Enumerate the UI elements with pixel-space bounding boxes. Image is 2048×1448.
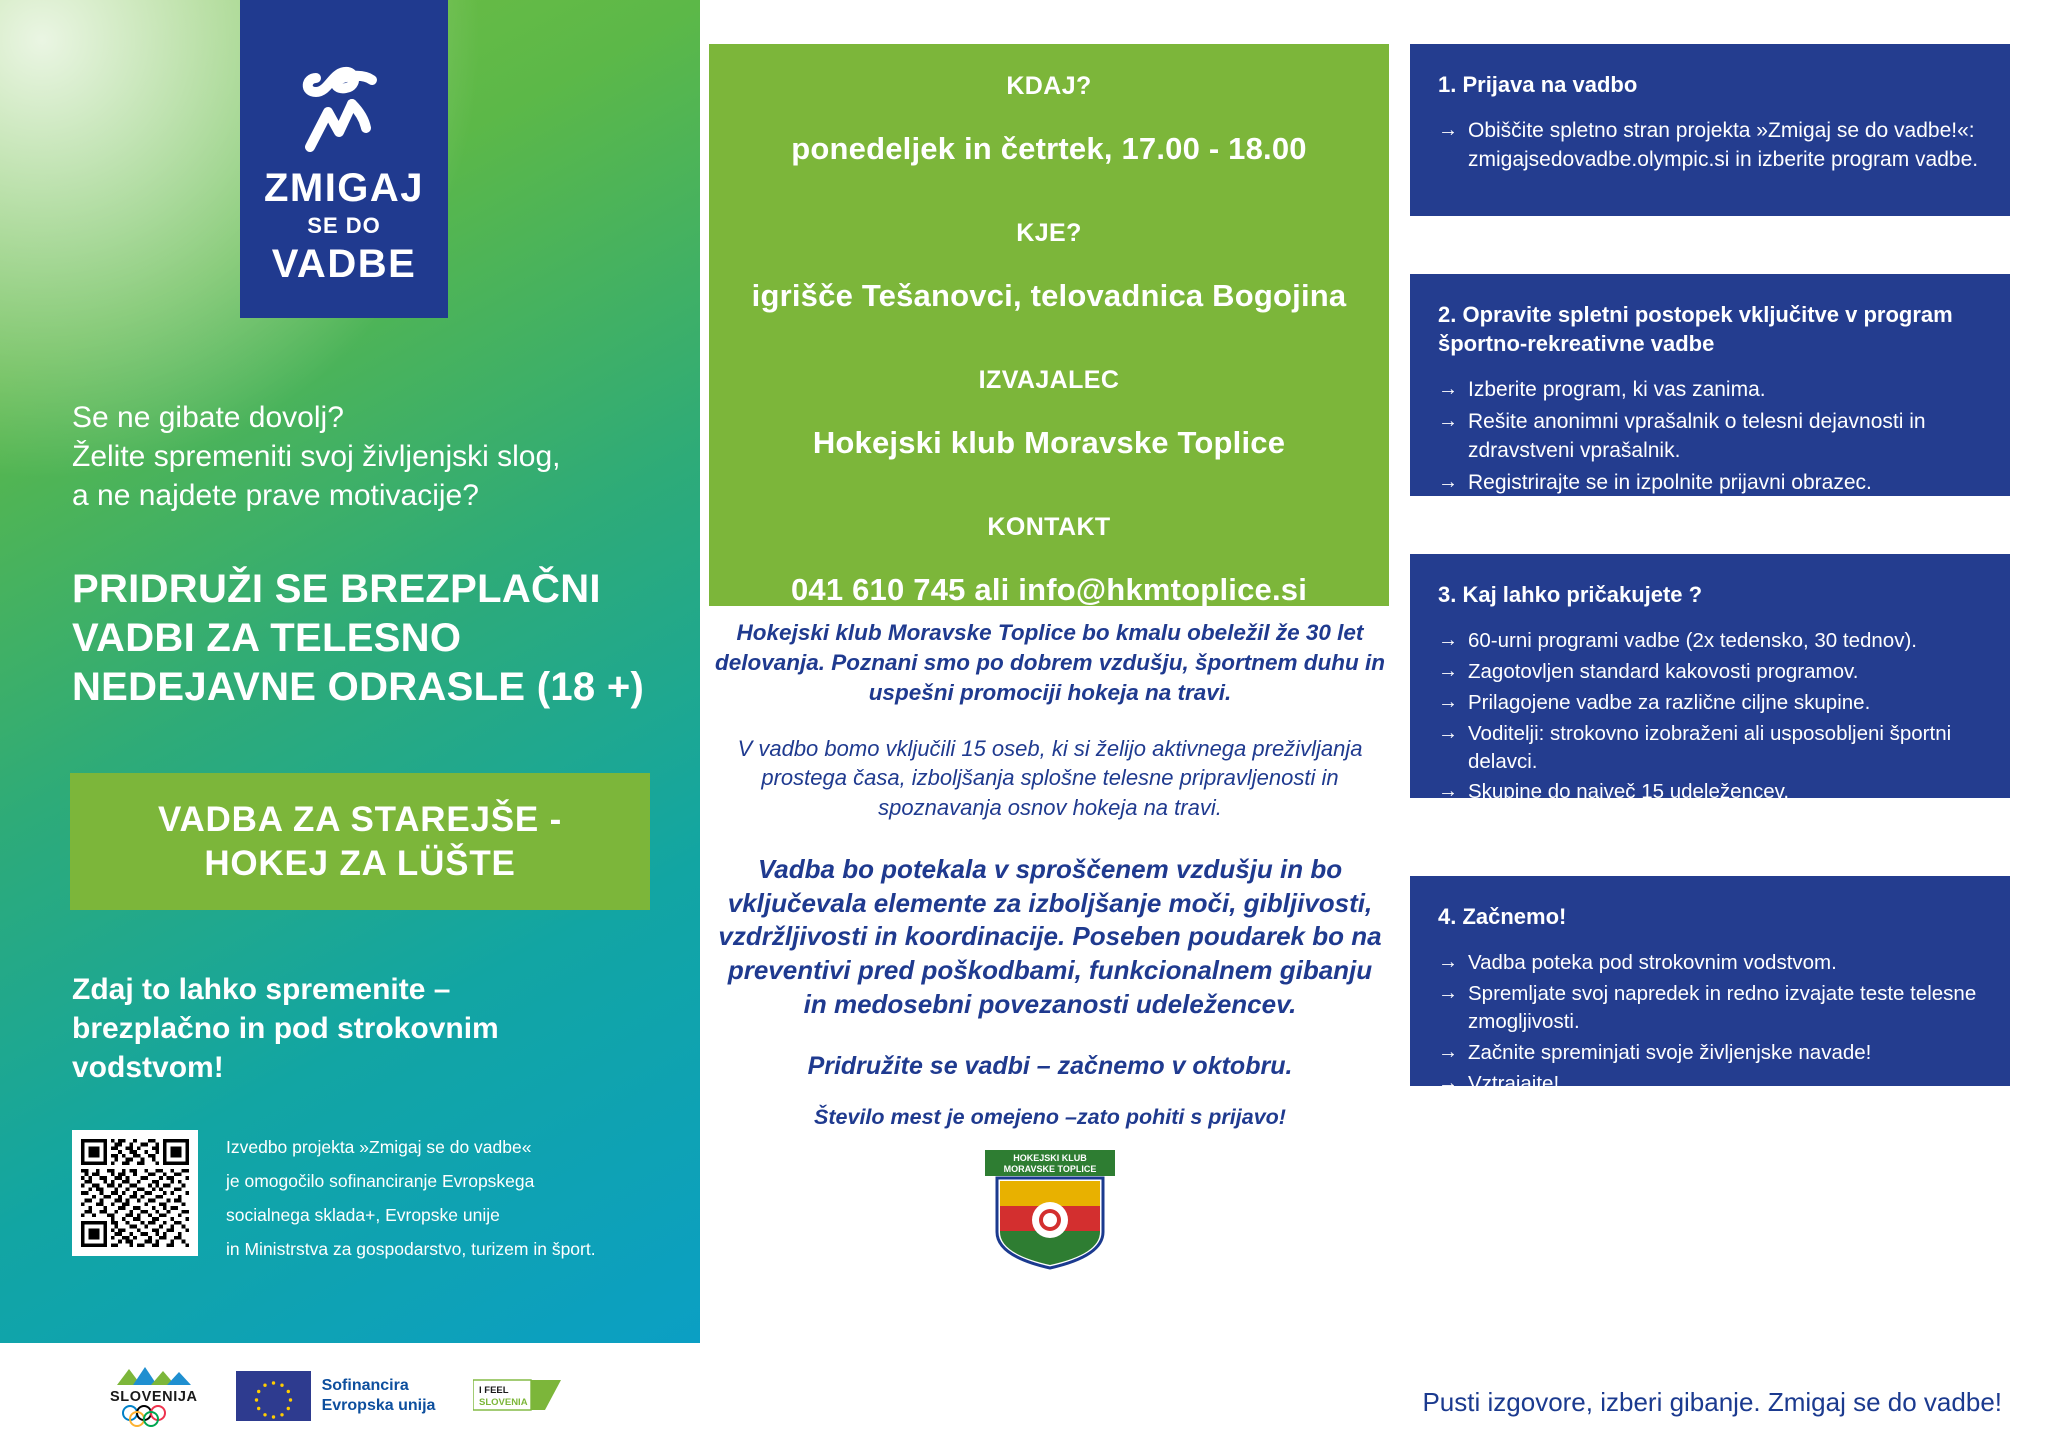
- list-item: → Zagotovljen standard kakovosti program…: [1438, 658, 1984, 686]
- paragraph-program-desc: Vadba bo potekala v sproščenem vzdušju i…: [714, 853, 1386, 1022]
- list-item-text: Začetne in končne meritve telesne zmoglj…: [1468, 811, 1898, 834]
- paragraph-limited-places: Število mest je omejeno –zato pohiti s p…: [714, 1104, 1386, 1132]
- badge-line-2: HOKEJ ZA LÜŠTE: [204, 842, 515, 886]
- step-box-2: 2. Opravite spletni postopek vključitve …: [1410, 274, 2010, 496]
- svg-text:SLOVENIA: SLOVENIA: [479, 1397, 528, 1408]
- list-item: → Registrirajte se in izpolnite prijavni…: [1438, 469, 1984, 498]
- closing-line-2: brezplačno in pod strokovnim: [72, 1009, 612, 1048]
- event-details-panel: KDAJ? ponedeljek in četrtek, 17.00 - 18.…: [709, 44, 1389, 606]
- headline-line-3: NEDEJAVNE ODRASLE (18 +): [72, 663, 692, 712]
- list-item: → Vztrajajte!: [1438, 1070, 1984, 1098]
- funding-line-2: je omogočilo sofinanciranje Evropskega: [226, 1164, 626, 1198]
- list-item: → Začetne in končne meritve telesne zmog…: [1438, 809, 1984, 837]
- intro-line-3: a ne najdete prave motivacije?: [72, 476, 652, 515]
- step-4-title: 4. Začnemo!: [1438, 902, 1984, 931]
- footer-slogan: Pusti izgovore, izberi gibanje. Zmigaj s…: [1422, 1387, 2002, 1418]
- list-item-text: Zagotovljen standard kakovosti programov…: [1468, 660, 1858, 683]
- footer: SLOVENIJA: [0, 1343, 2048, 1448]
- eu-line-2: Evropska unija: [322, 1396, 436, 1416]
- value-izvajalec: Hokejski klub Moravske Toplice: [733, 425, 1365, 461]
- step-2-list: → Izberite program, ki vas zanima. → Reš…: [1438, 376, 1984, 530]
- value-kdaj: ponedeljek in četrtek, 17.00 - 18.00: [733, 131, 1365, 167]
- svg-text:I FEEL: I FEEL: [479, 1385, 509, 1396]
- label-kdaj: KDAJ?: [733, 72, 1365, 101]
- eu-text: Sofinancira Evropska unija: [322, 1376, 436, 1416]
- list-item-text: Prilagojene vadbe za različne ciljne sku…: [1468, 691, 1870, 714]
- arrow-icon: →: [1438, 778, 1458, 805]
- slovenija-label: SLOVENIJA: [110, 1389, 198, 1405]
- arrow-icon: →: [1438, 720, 1458, 747]
- label-izvajalec: IZVAJALEC: [733, 366, 1365, 395]
- closing-text: Zdaj to lahko spremenite – brezplačno in…: [72, 970, 612, 1087]
- svg-text:MORAVSKE TOPLICE: MORAVSKE TOPLICE: [1004, 1164, 1097, 1174]
- i-feel-slovenia-logo: I FEEL SLOVENIA: [473, 1374, 561, 1418]
- value-kje: igrišče Tešanovci, telovadnica Bogojina: [733, 278, 1365, 314]
- middle-body-text: Hokejski klub Moravske Toplice bo kmalu …: [714, 618, 1386, 1132]
- olympic-rings-icon: [119, 1405, 189, 1427]
- arrow-icon: →: [1438, 980, 1458, 1007]
- arrow-icon: →: [1438, 840, 1458, 867]
- intro-line-1: Se ne gibate dovolj?: [72, 398, 652, 437]
- step-box-3: 3. Kaj lahko pričakujete ? → 60-urni pro…: [1410, 554, 2010, 798]
- footer-logo-row: SLOVENIJA: [110, 1365, 561, 1427]
- headline-line-1: PRIDRUŽI SE BREZPLAČNI: [72, 565, 692, 614]
- list-item: → Vadba poteka pod strokovnim vodstvom.: [1438, 949, 1984, 977]
- list-item: → Potrdite prijavo.: [1438, 501, 1984, 530]
- step-box-1: 1. Prijava na vadbo → Obiščite spletno s…: [1410, 44, 2010, 216]
- step-3-title: 3. Kaj lahko pričakujete ?: [1438, 580, 1984, 609]
- arrow-icon: →: [1438, 627, 1458, 654]
- list-item: → 60-urni programi vadbe (2x tedensko, 3…: [1438, 627, 1984, 655]
- list-item-text: Vadba poteka pod strokovnim vodstvom.: [1468, 951, 1837, 974]
- intro-line-2: Želite spremeniti svoj življenjski slog,: [72, 437, 652, 476]
- arrow-icon: →: [1438, 469, 1458, 497]
- step-3-list: → 60-urni programi vadbe (2x tedensko, 3…: [1438, 627, 1984, 899]
- running-figure-icon: [292, 52, 396, 160]
- arrow-icon: →: [1438, 1070, 1458, 1097]
- eu-cofunding-logo: Sofinancira Evropska unija: [236, 1371, 436, 1421]
- arrow-icon: →: [1438, 949, 1458, 976]
- hockey-club-crest-logo: HOKEJSKI KLUB MORAVSKE TOPLICE: [975, 1150, 1125, 1270]
- arrow-icon: →: [1438, 376, 1458, 404]
- olympic-committee-slovenia-logo: SLOVENIJA: [110, 1365, 198, 1427]
- program-badge: VADBA ZA STAREJŠE - HOKEJ ZA LÜŠTE: [70, 773, 650, 910]
- list-item: → Spremljate svoj napredek in redno izva…: [1438, 980, 1984, 1036]
- funding-note: Izvedbo projekta »Zmigaj se do vadbe« je…: [226, 1130, 626, 1267]
- list-item: → Obiščite spletno stran projekta »Zmiga…: [1438, 117, 1984, 175]
- qr-and-funding: Izvedbo projekta »Zmigaj se do vadbe« je…: [72, 1130, 626, 1267]
- list-item-text: Začnite spreminjati svoje življenjske na…: [1468, 1041, 1871, 1064]
- arrow-icon: →: [1438, 689, 1458, 716]
- logo-word-zmigaj: ZMIGAJ: [264, 168, 424, 208]
- funding-line-4: in Ministrstva za gospodarstvo, turizem …: [226, 1232, 626, 1266]
- arrow-icon: →: [1438, 408, 1458, 436]
- logo-word-sedo: SE DO: [307, 215, 380, 237]
- paragraph-join-call: Pridružite se vadbi – začnemo v oktobru.: [714, 1050, 1386, 1083]
- page-title: PRIDRUŽI SE BREZPLAČNI VADBI ZA TELESNO …: [72, 565, 692, 711]
- arrow-icon: →: [1438, 117, 1458, 145]
- list-item-text: Vztrajajte!: [1468, 1072, 1559, 1095]
- svg-text:HOKEJSKI KLUB: HOKEJSKI KLUB: [1013, 1153, 1087, 1163]
- arrow-icon: →: [1438, 1039, 1458, 1066]
- step-1-list: → Obiščite spletno stran projekta »Zmiga…: [1438, 117, 1984, 175]
- list-item-text: Voditelji: strokovno izobraženi ali uspo…: [1468, 722, 1951, 773]
- eu-line-1: Sofinancira: [322, 1376, 436, 1396]
- list-item: → Začnite spreminjati svoje življenjske …: [1438, 1039, 1984, 1067]
- list-item-text: Rešite anonimni vprašalnik o telesni dej…: [1468, 410, 1926, 462]
- list-item: → Izberite program, ki vas zanima.: [1438, 376, 1984, 405]
- list-item: → Rešite anonimni vprašalnik o telesni d…: [1438, 408, 1984, 466]
- funding-line-3: socialnega sklada+, Evropske unije: [226, 1198, 626, 1232]
- closing-line-3: vodstvom!: [72, 1048, 612, 1087]
- list-item-text: Spremljate svoj napredek in redno izvaja…: [1468, 982, 1976, 1033]
- closing-line-1: Zdaj to lahko spremenite –: [72, 970, 612, 1009]
- list-item-text: Izberite program, ki vas zanima.: [1468, 378, 1766, 401]
- left-panel: ZMIGAJ SE DO VADBE Se ne gibate dovolj? …: [0, 0, 700, 1343]
- list-item: → Prilagojene vadbe za različne ciljne s…: [1438, 689, 1984, 717]
- arrow-icon: →: [1438, 809, 1458, 836]
- arrow-icon: →: [1438, 501, 1458, 529]
- list-item-text: Skupine do največ 15 udeležencev.: [1468, 780, 1789, 803]
- list-item: → Spremljanje napredka.: [1438, 840, 1984, 868]
- list-item-text: 60-urni programi vadbe (2x tedensko, 30 …: [1468, 629, 1917, 652]
- list-item-text: Potrdite prijavo.: [1468, 503, 1614, 526]
- step-2-title: 2. Opravite spletni postopek vključitve …: [1438, 300, 1984, 358]
- eu-flag-icon: [236, 1371, 311, 1421]
- value-kontakt[interactable]: 041 610 745 ali info@hkmtoplice.si: [733, 572, 1365, 608]
- logo-word-vadbe: VADBE: [272, 244, 417, 284]
- step-4-list: → Vadba poteka pod strokovnim vodstvom. …: [1438, 949, 1984, 1097]
- list-item: → Skupine do največ 15 udeležencev.: [1438, 778, 1984, 806]
- right-column: 1. Prijava na vadbo → Obiščite spletno s…: [1400, 0, 2048, 1343]
- list-item-text: Registrirajte se in izpolnite prijavni o…: [1468, 471, 1872, 494]
- step-1-title: 1. Prijava na vadbo: [1438, 70, 1984, 99]
- middle-column: KDAJ? ponedeljek in četrtek, 17.00 - 18.…: [700, 0, 1400, 1343]
- step-box-4: 4. Začnemo! → Vadba poteka pod strokovni…: [1410, 876, 2010, 1086]
- badge-line-1: VADBA ZA STAREJŠE -: [158, 798, 562, 842]
- list-item-text: Obiščite spletno stran projekta »Zmigaj …: [1468, 119, 1978, 171]
- intro-text: Se ne gibate dovolj? Želite spremeniti s…: [72, 398, 652, 515]
- i-feel-slovenia-icon: I FEEL SLOVENIA: [473, 1374, 561, 1418]
- mountains-icon: [113, 1365, 195, 1387]
- funding-line-1: Izvedbo projekta »Zmigaj se do vadbe«: [226, 1130, 626, 1164]
- label-kje: KJE?: [733, 219, 1365, 248]
- paragraph-participants: V vadbo bomo vključili 15 oseb, ki si že…: [714, 734, 1386, 823]
- headline-line-2: VADBI ZA TELESNO: [72, 614, 692, 663]
- paragraph-club-intro: Hokejski klub Moravske Toplice bo kmalu …: [714, 618, 1386, 708]
- list-item: → Voditelji: strokovno izobraženi ali us…: [1438, 720, 1984, 776]
- arrow-icon: →: [1438, 658, 1458, 685]
- qr-code[interactable]: [72, 1130, 198, 1256]
- brand-logo-box: ZMIGAJ SE DO VADBE: [240, 0, 448, 318]
- poster-root: ZMIGAJ SE DO VADBE Se ne gibate dovolj? …: [0, 0, 2048, 1448]
- label-kontakt: KONTAKT: [733, 513, 1365, 542]
- list-item-text: Spremljanje napredka.: [1468, 842, 1673, 865]
